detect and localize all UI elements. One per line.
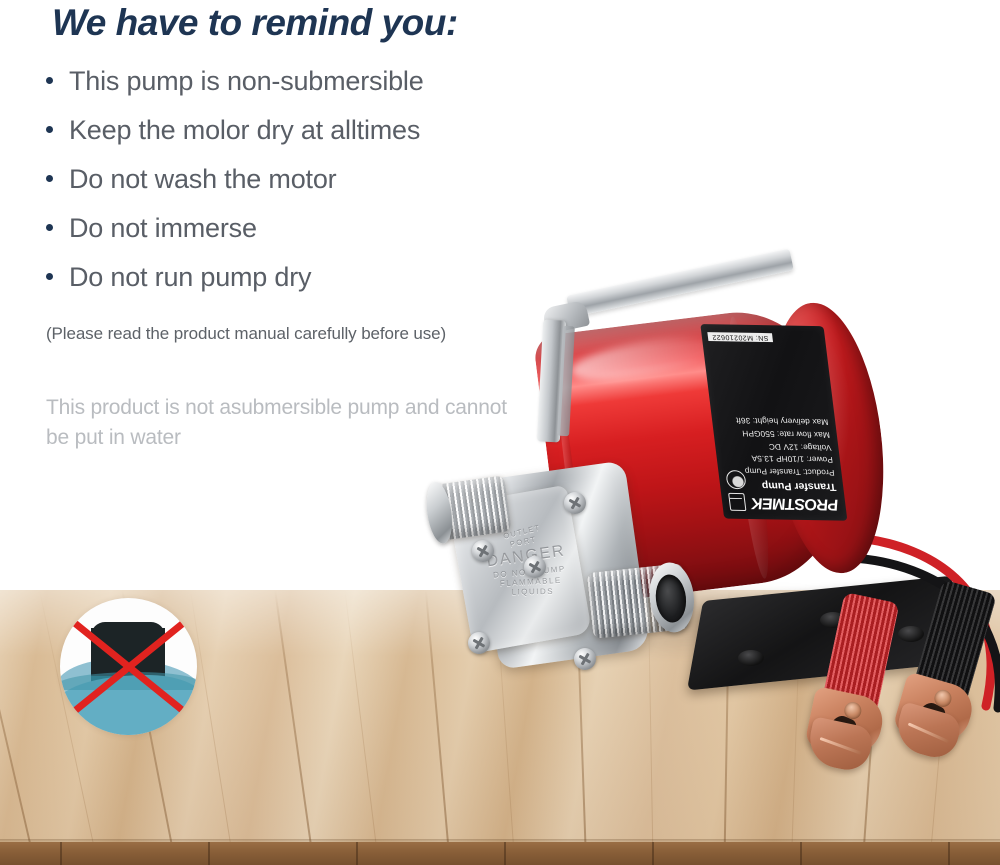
cover-screw bbox=[524, 556, 546, 578]
infographic-canvas: We have to remind you: This pump is non-… bbox=[0, 0, 1000, 865]
cover-screw bbox=[564, 492, 586, 514]
bullet-dot-icon bbox=[46, 224, 53, 231]
list-item: Do not wash the motor bbox=[46, 166, 586, 215]
list-item-label: Keep the molor dry at alltimes bbox=[69, 117, 420, 144]
list-item: Do not immerse bbox=[46, 215, 586, 264]
table-front-edge bbox=[0, 842, 1000, 865]
ce-mark-icon bbox=[725, 470, 746, 489]
cover-screw bbox=[472, 540, 494, 562]
list-item-label: This pump is non-submersible bbox=[69, 68, 424, 95]
list-item-label: Do not wash the motor bbox=[69, 166, 336, 193]
bullet-dot-icon bbox=[46, 175, 53, 182]
cover-screw bbox=[468, 632, 490, 654]
bullet-dot-icon bbox=[46, 273, 53, 280]
cover-screw bbox=[574, 648, 596, 670]
carry-handle bbox=[518, 268, 788, 448]
outlet-port bbox=[434, 475, 511, 540]
list-item-label: Do not run pump dry bbox=[69, 264, 311, 291]
list-item-label: Do not immerse bbox=[69, 215, 257, 242]
handle-bar bbox=[566, 249, 794, 318]
no-submerge-icon bbox=[60, 598, 197, 735]
list-item: Keep the molor dry at alltimes bbox=[46, 117, 586, 166]
pump-head: OUTLET PORT DANGER DO NOT PUMP FLAMMABLE… bbox=[438, 464, 688, 684]
bullet-dot-icon bbox=[46, 77, 53, 84]
page-title: We have to remind you: bbox=[52, 2, 458, 44]
transfer-pump-product-photo: PROSTMEK Transfer Pump Product: Transfer… bbox=[420, 268, 1000, 808]
list-item: This pump is non-submersible bbox=[46, 68, 586, 117]
wheelie-bin-icon bbox=[728, 493, 746, 511]
inlet-port bbox=[587, 563, 689, 639]
manual-note: (Please read the product manual carefull… bbox=[46, 324, 446, 344]
rubber-foot bbox=[738, 650, 764, 666]
red-x-mark bbox=[60, 598, 197, 735]
spec-power: Power: 1/10HP 13.5A bbox=[723, 451, 834, 466]
bullet-dot-icon bbox=[46, 126, 53, 133]
